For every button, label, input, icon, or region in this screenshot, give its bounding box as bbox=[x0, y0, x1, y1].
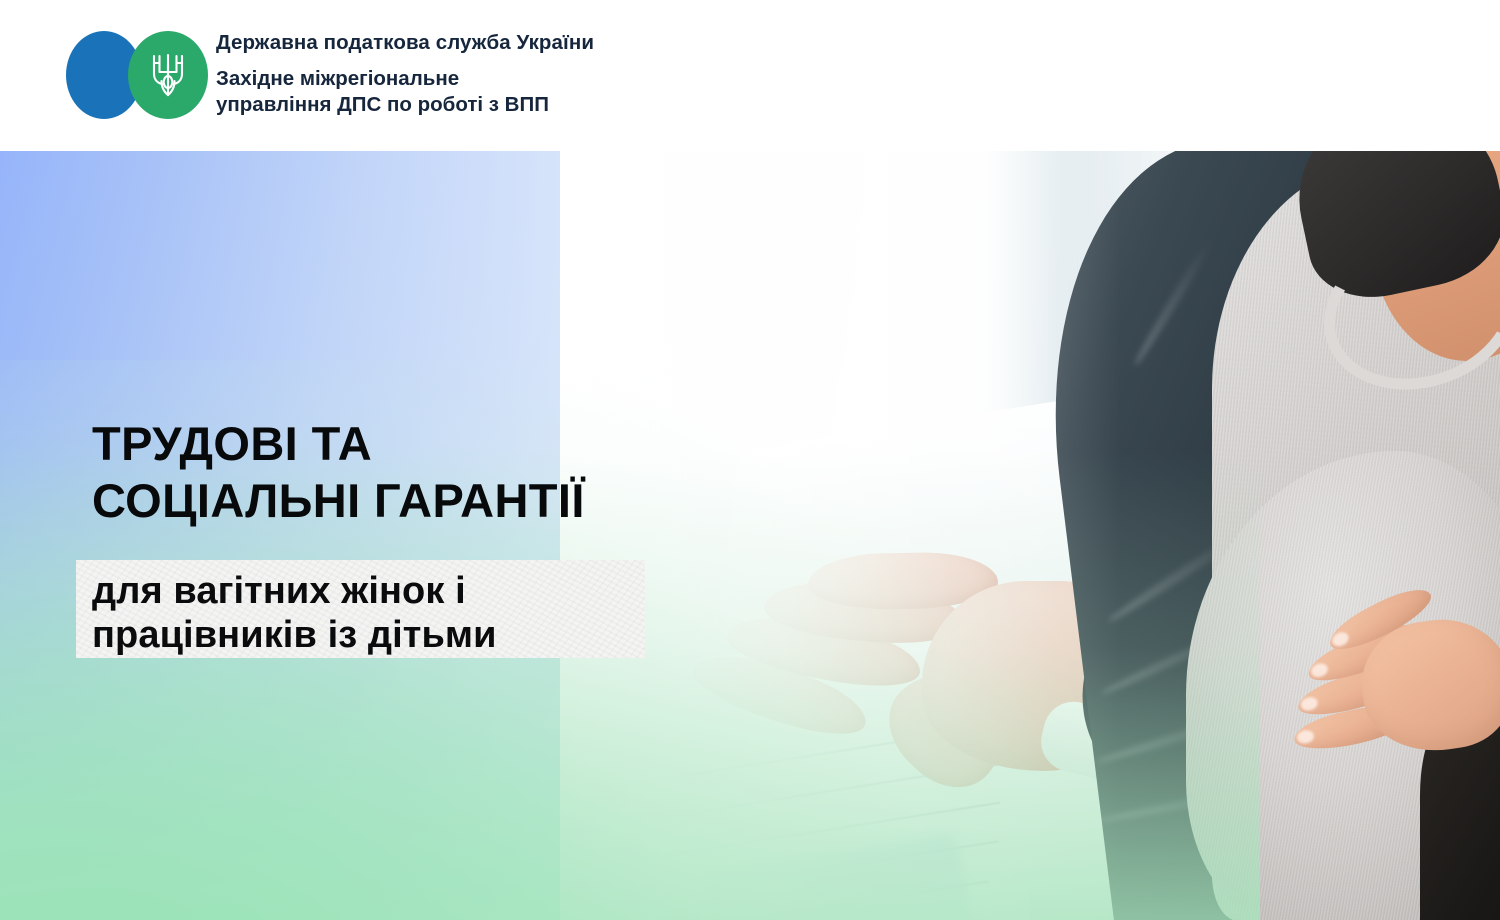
brand-lockup[interactable]: Державна податкова служба України Західн… bbox=[66, 31, 594, 119]
ukrainian-trident-icon bbox=[149, 50, 187, 100]
subtitle-block: для вагітних жінок і працівників із діть… bbox=[76, 560, 645, 658]
department-name: Західне міжрегіональне управління ДПС по… bbox=[216, 66, 594, 118]
brand-text: Державна податкова служба України Західн… bbox=[216, 32, 594, 118]
hand-on-belly bbox=[1278, 606, 1500, 826]
page-title: ТРУДОВІ ТА СОЦІАЛЬНІ ГАРАНТІЇ bbox=[92, 415, 585, 530]
header-bar: Державна податкова служба України Західн… bbox=[0, 0, 1500, 151]
pregnant-woman bbox=[990, 151, 1500, 920]
banner-poster: ТРУДОВІ ТА СОЦІАЛЬНІ ГАРАНТІЇ для вагітн… bbox=[0, 0, 1500, 920]
org-name: Державна податкова служба України bbox=[216, 32, 594, 55]
page-subtitle: для вагітних жінок і працівників із діть… bbox=[76, 560, 645, 658]
dps-logo[interactable] bbox=[66, 31, 208, 119]
hero-photo bbox=[560, 151, 1500, 920]
banner-background bbox=[0, 151, 1500, 920]
